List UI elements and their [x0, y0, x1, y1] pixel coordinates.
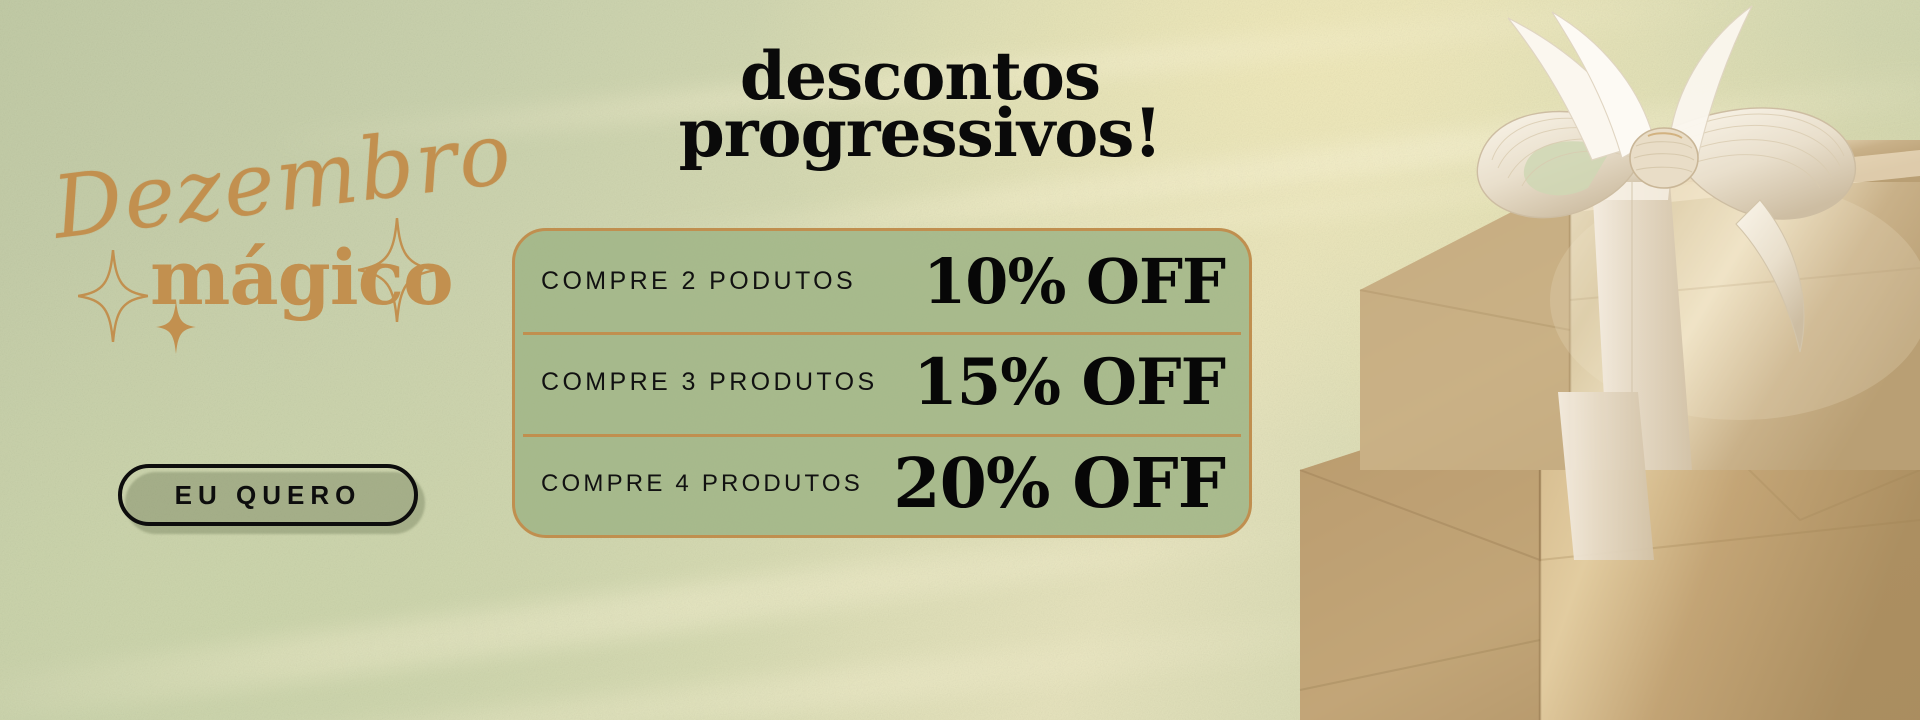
gift-boxes-image: [1240, 0, 1920, 720]
cta-button-label: EU QUERO: [175, 480, 362, 511]
discount-row-value: 20% OFF: [893, 450, 1225, 518]
discount-row[interactable]: COMPRE 2 PODUTOS 10% OFF: [515, 231, 1249, 332]
four-point-sparkle-icon: [78, 250, 148, 342]
discount-row-description: COMPRE 4 PRODUTOS: [541, 470, 863, 498]
headline-line-2: progressivos!: [620, 105, 1220, 162]
discount-row[interactable]: COMPRE 3 PRODUTOS 15% OFF: [515, 332, 1249, 433]
promo-banner: Dezembro mágico EU QUERO descontos progr…: [0, 0, 1920, 720]
eu-quero-button[interactable]: EU QUERO: [118, 464, 418, 526]
cta-container: EU QUERO: [118, 464, 418, 526]
left-content-block: Dezembro mágico EU QUERO: [0, 0, 500, 720]
discount-row-description: COMPRE 2 PODUTOS: [541, 267, 856, 296]
main-headline: descontos progressivos!: [620, 48, 1220, 162]
script-headline-dezembro: Dezembro: [48, 110, 517, 252]
discount-row-description: COMPRE 3 PRODUTOS: [541, 368, 878, 397]
discount-row[interactable]: COMPRE 4 PRODUTOS 20% OFF: [515, 434, 1249, 535]
discount-row-value: 15% OFF: [913, 351, 1225, 415]
headline-magico: mágico: [150, 240, 453, 316]
discount-tiers-card: COMPRE 2 PODUTOS 10% OFF COMPRE 3 PRODUT…: [512, 228, 1252, 538]
discount-row-value: 10% OFF: [923, 251, 1225, 313]
